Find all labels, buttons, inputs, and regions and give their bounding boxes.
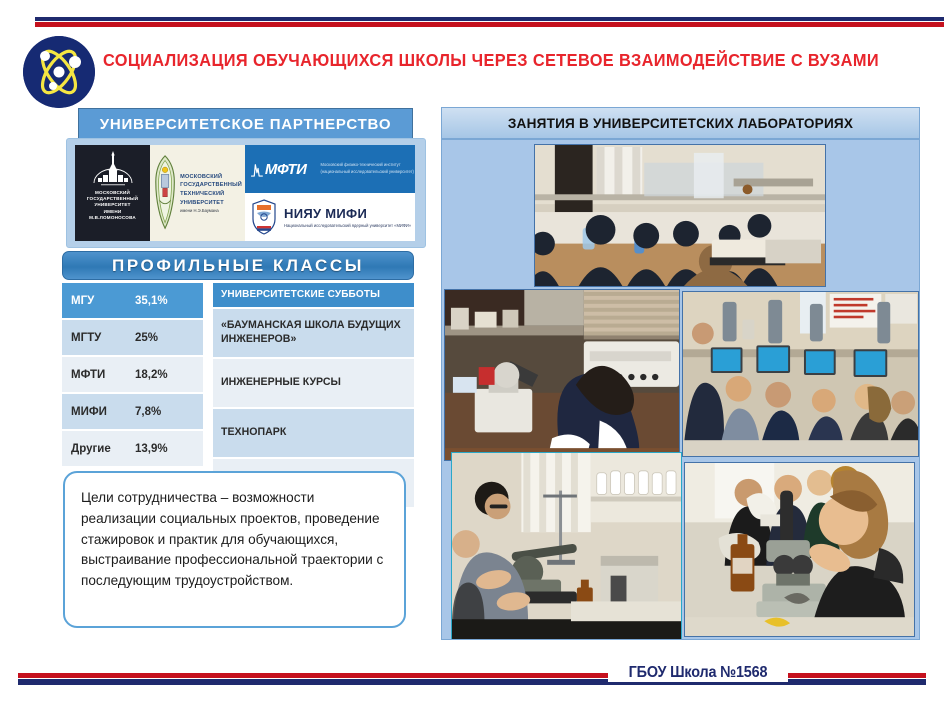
msu-logo-text: МОСКОВСКИЙГОСУДАРСТВЕННЫЙУНИВЕРСИТЕТИМЕН…	[87, 190, 138, 221]
labs-header-label: ЗАНЯТИЯ В УНИВЕРСИТЕТСКИХ ЛАБОРАТОРИЯХ	[508, 116, 853, 131]
table-row: УНИВЕРСИТЕТСКИЕ СУББОТЫ	[213, 283, 414, 308]
table-row: «БАУМАНСКАЯ ШКОЛА БУДУЩИХ ИНЖЕНЕРОВ»	[213, 308, 414, 358]
bmstu-line-4: УНИВЕРСИТЕТ	[180, 199, 242, 208]
top-rule-navy	[35, 17, 944, 21]
footer-school-label: ГБОУ Школа №1568	[608, 664, 788, 682]
bmstu-logo: МОСКОВСКИЙ ГОСУДАРСТВЕННЫЙ ТЕХНИЧЕСКИЙ У…	[150, 145, 245, 241]
presentation-slide: СОЦИАЛИЗАЦИЯ ОБУЧАЮЩИХСЯ ШКОЛЫ ЧЕРЕЗ СЕТ…	[0, 0, 944, 708]
profile-distribution-table: МГУ 35,1% МГТУ 25% МФТИ 18,2% МИФИ 7,8% …	[62, 283, 203, 468]
goals-text: Цели сотрудничества – возможности реализ…	[81, 488, 388, 592]
top-rule-red	[35, 22, 944, 27]
activities-header: УНИВЕРСИТЕТСКИЕ СУББОТЫ	[213, 283, 414, 308]
bmstu-subtitle: имени Н.Э.Баумана	[180, 208, 242, 213]
photo-student-at-microscope	[444, 289, 680, 461]
mephi-crest-icon	[251, 199, 277, 235]
profile-classes-banner-label: ПРОФИЛЬНЫЕ КЛАССЫ	[112, 256, 364, 276]
mephi-subtitle: Национальный исследовательский ядерный у…	[284, 223, 411, 228]
activities-item-1: ИНЖЕНЕРНЫЕ КУРСЫ	[213, 358, 414, 408]
labs-header: ЗАНЯТИЯ В УНИВЕРСИТЕТСКИХ ЛАБОРАТОРИЯХ	[441, 107, 920, 139]
msu-building-icon	[91, 149, 135, 187]
distribution-label-3: МИФИ	[62, 393, 124, 430]
table-row: ИНЖЕНЕРНЫЕ КУРСЫ	[213, 358, 414, 408]
activities-item-2: ТЕХНОПАРК	[213, 408, 414, 458]
table-row: МФТИ 18,2%	[62, 356, 203, 393]
atom-school-logo	[23, 36, 95, 108]
mephi-logo-word: НИЯУ МИФИ	[284, 206, 411, 221]
mephi-logo: НИЯУ МИФИ Национальный исследовательский…	[245, 193, 415, 241]
distribution-value-2: 18,2%	[124, 356, 203, 393]
table-row: МГУ 35,1%	[62, 283, 203, 319]
photo-computer-lab-class	[682, 291, 919, 457]
distribution-label-2: МФТИ	[62, 356, 124, 393]
photo-students-lab-bench	[451, 452, 682, 640]
profile-classes-banner: ПРОФИЛЬНЫЕ КЛАССЫ	[62, 251, 414, 280]
mipt-mephi-stack: МФТИ Московский физико-технический инсти…	[245, 145, 415, 241]
distribution-label-0: МГУ	[62, 283, 124, 319]
mipt-logo-word: МФТИ	[265, 161, 307, 178]
footer-rule-red	[18, 673, 926, 678]
distribution-value-0: 35,1%	[124, 283, 203, 319]
table-row: ТЕХНОПАРК	[213, 408, 414, 458]
mipt-subtitle: Московский физико-технический институт (…	[321, 162, 415, 175]
bmstu-line-1: МОСКОВСКИЙ	[180, 173, 242, 182]
partnership-logos-panel: МОСКОВСКИЙГОСУДАРСТВЕННЫЙУНИВЕРСИТЕТИМЕН…	[66, 138, 426, 248]
bmstu-line-2: ГОСУДАРСТВЕННЫЙ	[180, 181, 242, 190]
partnership-header-label: УНИВЕРСИТЕТСКОЕ ПАРТНЕРСТВО	[100, 116, 392, 133]
table-row: МИФИ 7,8%	[62, 393, 203, 430]
distribution-value-4: 13,9%	[124, 430, 203, 467]
bmstu-crest-icon	[153, 151, 177, 235]
msu-logo: МОСКОВСКИЙГОСУДАРСТВЕННЫЙУНИВЕРСИТЕТИМЕН…	[75, 145, 150, 241]
photo-girl-at-microscope	[684, 462, 915, 637]
bmstu-line-3: ТЕХНИЧЕСКИЙ	[180, 190, 242, 199]
bmstu-logo-text: МОСКОВСКИЙ ГОСУДАРСТВЕННЫЙ ТЕХНИЧЕСКИЙ У…	[180, 173, 242, 214]
table-row: МГТУ 25%	[62, 319, 203, 356]
table-row: Другие 13,9%	[62, 430, 203, 467]
partnership-header: УНИВЕРСИТЕТСКОЕ ПАРТНЕРСТВО	[78, 108, 413, 140]
distribution-value-3: 7,8%	[124, 393, 203, 430]
mipt-logo: МФТИ Московский физико-технический инсти…	[245, 145, 415, 193]
labs-photo-collage	[441, 139, 920, 640]
photo-chemistry-lecture-hall	[534, 144, 826, 287]
goals-callout: Цели сотрудничества – возможности реализ…	[63, 471, 406, 628]
distribution-label-1: МГТУ	[62, 319, 124, 356]
footer-rule-navy	[18, 679, 926, 685]
mipt-pulse-icon	[251, 152, 263, 186]
activities-item-0: «БАУМАНСКАЯ ШКОЛА БУДУЩИХ ИНЖЕНЕРОВ»	[213, 308, 414, 358]
mephi-logo-text: НИЯУ МИФИ Национальный исследовательский…	[284, 206, 411, 228]
page-title: СОЦИАЛИЗАЦИЯ ОБУЧАЮЩИХСЯ ШКОЛЫ ЧЕРЕЗ СЕТ…	[103, 50, 891, 71]
distribution-value-1: 25%	[124, 319, 203, 356]
university-logo-strip: МОСКОВСКИЙГОСУДАРСТВЕННЫЙУНИВЕРСИТЕТИМЕН…	[75, 145, 415, 241]
distribution-label-4: Другие	[62, 430, 124, 467]
